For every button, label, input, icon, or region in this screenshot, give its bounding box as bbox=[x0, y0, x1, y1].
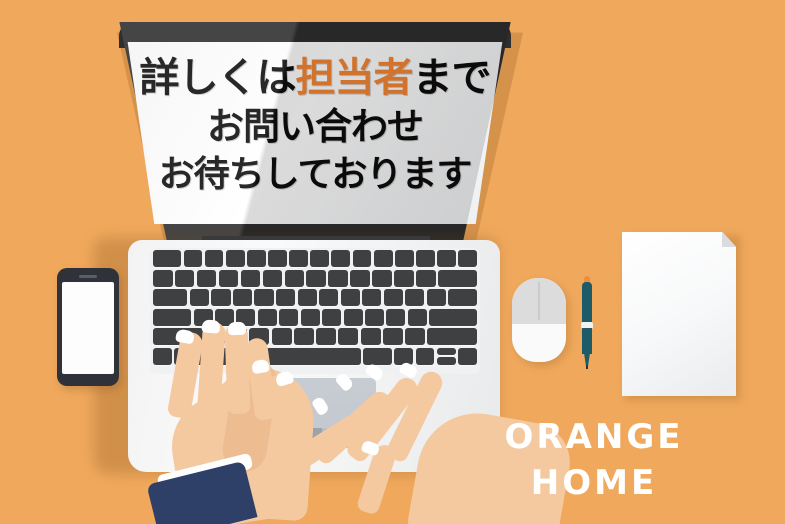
key[interactable] bbox=[254, 289, 273, 306]
key[interactable] bbox=[247, 250, 266, 267]
smartphone-earpiece bbox=[79, 275, 97, 278]
key[interactable] bbox=[362, 289, 381, 306]
key[interactable] bbox=[416, 250, 435, 267]
key[interactable] bbox=[374, 250, 393, 267]
pen-nib bbox=[586, 365, 588, 369]
screen-text-line-1: 詳しくは担当者まで bbox=[140, 53, 491, 103]
key[interactable] bbox=[383, 328, 403, 345]
screen-message: 詳しくは担当者まで お問い合わせ お待ちしております bbox=[119, 42, 511, 224]
ballpoint-pen[interactable] bbox=[581, 276, 593, 368]
right-hand-nail-ring bbox=[334, 372, 354, 393]
key-tab[interactable] bbox=[153, 289, 187, 306]
key[interactable] bbox=[344, 309, 363, 326]
key[interactable] bbox=[268, 250, 287, 267]
key[interactable] bbox=[205, 250, 224, 267]
key[interactable] bbox=[301, 309, 320, 326]
paper-sheet-surface bbox=[622, 232, 736, 396]
screen-text-line-1-highlight: 担当者 bbox=[296, 55, 413, 101]
key[interactable] bbox=[153, 270, 173, 287]
key[interactable] bbox=[372, 270, 392, 287]
key[interactable] bbox=[328, 270, 348, 287]
key-capslock[interactable] bbox=[153, 309, 191, 326]
keyboard-row-number bbox=[153, 270, 477, 287]
key[interactable] bbox=[219, 270, 239, 287]
key[interactable] bbox=[319, 289, 338, 306]
key-arrow-right[interactable] bbox=[458, 348, 477, 365]
screen-text-line-2: お問い合わせ bbox=[207, 103, 423, 151]
computer-mouse[interactable] bbox=[512, 278, 566, 362]
keyboard-row-function bbox=[153, 250, 477, 267]
computer-mouse-button-divider bbox=[538, 282, 540, 320]
key-arrow-updown[interactable] bbox=[437, 348, 456, 365]
key[interactable] bbox=[276, 289, 295, 306]
key[interactable] bbox=[408, 309, 427, 326]
key-arrow-left[interactable] bbox=[416, 348, 435, 365]
key[interactable] bbox=[279, 309, 298, 326]
key-backspace[interactable] bbox=[438, 270, 477, 287]
key[interactable] bbox=[175, 270, 195, 287]
key[interactable] bbox=[405, 328, 425, 345]
key[interactable] bbox=[395, 250, 414, 267]
pen-upper-barrel bbox=[582, 282, 592, 324]
key[interactable] bbox=[190, 289, 209, 306]
key[interactable] bbox=[233, 289, 252, 306]
key[interactable] bbox=[353, 250, 372, 267]
brand-line-2: HOME bbox=[494, 460, 694, 506]
key[interactable] bbox=[306, 270, 326, 287]
key-enter[interactable] bbox=[429, 309, 477, 326]
key[interactable] bbox=[285, 270, 305, 287]
paper-sheet[interactable] bbox=[622, 232, 736, 396]
key[interactable] bbox=[331, 250, 350, 267]
key[interactable] bbox=[211, 289, 230, 306]
smartphone[interactable] bbox=[57, 268, 119, 386]
key[interactable] bbox=[458, 250, 477, 267]
key-arrow-down[interactable] bbox=[437, 357, 456, 365]
key[interactable] bbox=[289, 250, 308, 267]
key[interactable] bbox=[197, 270, 217, 287]
left-hand-finger-ring bbox=[224, 324, 250, 415]
key[interactable] bbox=[405, 289, 424, 306]
keyboard-row-top bbox=[153, 289, 477, 306]
key[interactable] bbox=[394, 270, 414, 287]
key[interactable] bbox=[310, 250, 329, 267]
key[interactable] bbox=[365, 309, 384, 326]
key-shift-right[interactable] bbox=[427, 328, 477, 345]
key[interactable] bbox=[448, 289, 477, 306]
key[interactable] bbox=[350, 270, 370, 287]
key[interactable] bbox=[263, 270, 283, 287]
left-hand-nail-middle bbox=[202, 319, 221, 333]
key[interactable] bbox=[386, 309, 405, 326]
key[interactable] bbox=[416, 270, 436, 287]
scene-canvas: 詳しくは担当者まで お問い合わせ お待ちしております bbox=[0, 0, 785, 524]
screen-text-line-3: お待ちしております bbox=[159, 151, 472, 199]
key[interactable] bbox=[341, 289, 360, 306]
key[interactable] bbox=[241, 270, 261, 287]
left-hand-nail-ring bbox=[228, 322, 246, 336]
key[interactable] bbox=[322, 309, 341, 326]
key[interactable] bbox=[184, 250, 203, 267]
smartphone-screen[interactable] bbox=[62, 282, 114, 374]
key[interactable] bbox=[258, 309, 277, 326]
pen-lower-barrel bbox=[582, 328, 592, 354]
key-arrow-up[interactable] bbox=[437, 348, 456, 356]
key[interactable] bbox=[298, 289, 317, 306]
screen-text-line-1-pre: 詳しくは bbox=[140, 55, 296, 101]
screen-text-line-1-post: まで bbox=[413, 55, 491, 101]
key[interactable] bbox=[384, 289, 403, 306]
key[interactable] bbox=[153, 250, 181, 267]
brand-logo: ORANGE HOME bbox=[494, 414, 694, 506]
key[interactable] bbox=[226, 250, 245, 267]
key[interactable] bbox=[427, 289, 446, 306]
key[interactable] bbox=[437, 250, 456, 267]
brand-line-1: ORANGE bbox=[494, 414, 694, 460]
